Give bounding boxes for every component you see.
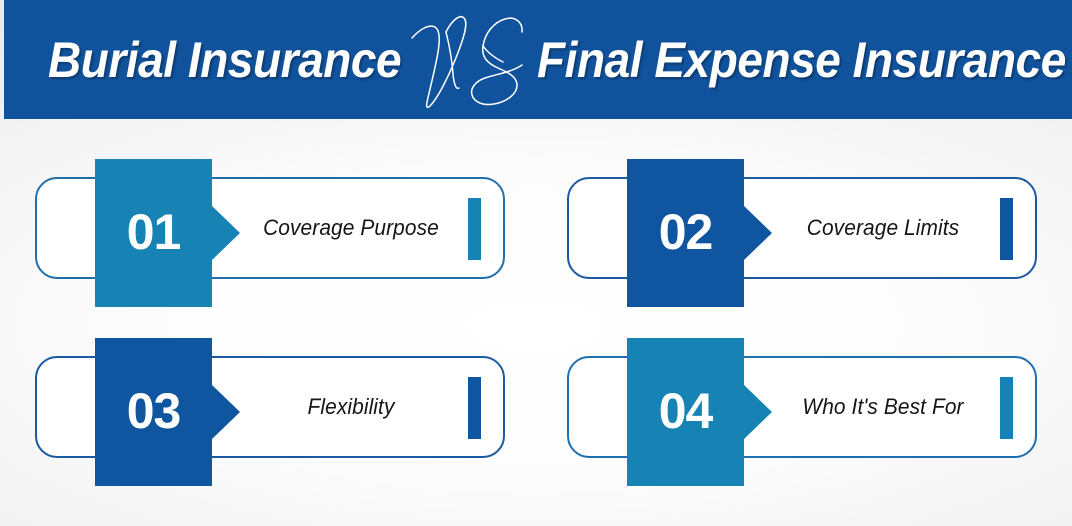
card-01-accent-bar <box>468 198 481 260</box>
card-02-number-block: 02 <box>627 159 744 307</box>
card-04[interactable]: 04 Who It's Best For <box>565 338 1040 488</box>
header-title-right: Final Expense Insurance <box>537 0 1066 119</box>
card-03-number-block: 03 <box>95 338 212 486</box>
card-02-accent-bar <box>1000 198 1013 260</box>
card-01-number-block: 01 <box>95 159 212 307</box>
card-04-arrow-icon <box>744 385 772 439</box>
infographic-canvas: Burial Insurance Final Expense Insurance… <box>0 0 1072 526</box>
cards-grid: 01 Coverage Purpose 02 Coverage Limits 0… <box>0 119 1072 526</box>
card-01-label: Coverage Purpose <box>250 177 451 279</box>
card-04-number-block: 04 <box>627 338 744 486</box>
card-02-arrow-icon <box>744 206 772 260</box>
card-02[interactable]: 02 Coverage Limits <box>565 159 1040 309</box>
card-04-label: Who It's Best For <box>782 356 983 458</box>
card-01-arrow-icon <box>212 206 240 260</box>
header-title-left: Burial Insurance <box>48 0 401 119</box>
card-03-label: Flexibility <box>250 356 451 458</box>
versus-script-icon <box>402 8 552 116</box>
card-01[interactable]: 01 Coverage Purpose <box>33 159 508 309</box>
card-03-number: 03 <box>127 386 181 436</box>
header-banner: Burial Insurance Final Expense Insurance <box>4 0 1072 119</box>
card-02-number: 02 <box>659 207 713 257</box>
card-02-label: Coverage Limits <box>782 177 983 279</box>
card-03-arrow-icon <box>212 385 240 439</box>
card-04-accent-bar <box>1000 377 1013 439</box>
card-01-number: 01 <box>127 207 181 257</box>
card-03-accent-bar <box>468 377 481 439</box>
card-04-number: 04 <box>659 386 713 436</box>
card-03[interactable]: 03 Flexibility <box>33 338 508 488</box>
